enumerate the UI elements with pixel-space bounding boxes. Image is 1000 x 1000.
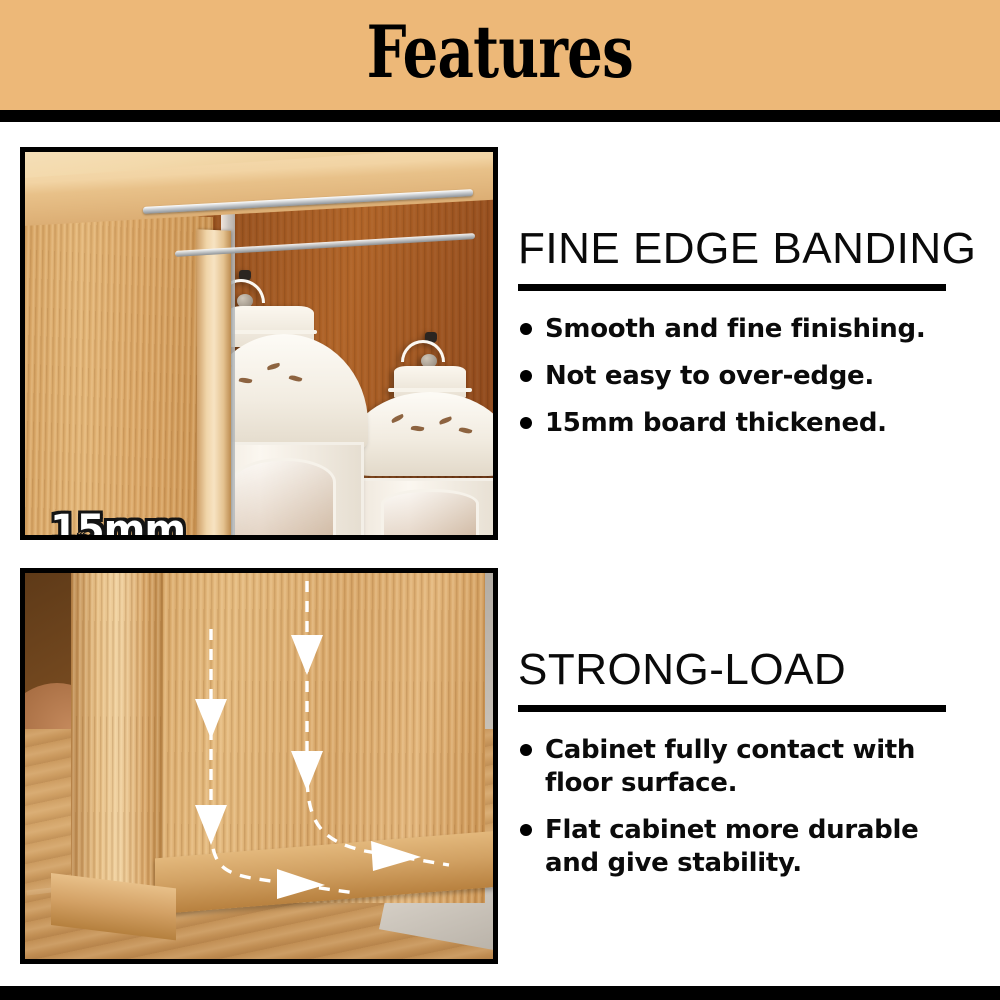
header-divider: [0, 110, 1000, 122]
feature-bullet-list: Cabinet fully contact with floor surface…: [518, 734, 978, 880]
section-title: STRONG-LOAD: [518, 645, 978, 695]
edge-band-strip: [197, 229, 231, 535]
cabinet-base-floor-photo: [20, 568, 498, 964]
list-item: Smooth and fine finishing.: [518, 313, 978, 346]
section-strong-load: STRONG-LOAD Cabinet fully contact with f…: [518, 645, 978, 894]
decorative-lantern-right: [355, 332, 493, 535]
list-item: Cabinet fully contact with floor surface…: [518, 734, 978, 800]
bullet-dot-icon: [520, 744, 532, 756]
list-item: Not easy to over-edge.: [518, 360, 978, 393]
footer-divider: [0, 986, 1000, 1000]
list-item-label: Not easy to over-edge.: [545, 360, 874, 393]
features-infographic: Features: [0, 0, 1000, 1000]
page-title: Features: [367, 16, 633, 94]
list-item-label: Cabinet fully contact with floor surface…: [545, 734, 949, 800]
bullet-dot-icon: [520, 323, 532, 335]
section-divider: [518, 284, 946, 291]
section-divider: [518, 705, 946, 712]
header-band: Features: [0, 0, 1000, 110]
arrow-heads: [195, 635, 421, 899]
bullet-dot-icon: [520, 370, 532, 382]
list-item: Flat cabinet more durable and give stabi…: [518, 814, 978, 880]
list-item-label: Flat cabinet more durable and give stabi…: [545, 814, 949, 880]
bullet-dot-icon: [520, 417, 532, 429]
list-item: 15mm board thickened.: [518, 407, 978, 440]
feature-bullet-list: Smooth and fine finishing. Not easy to o…: [518, 313, 978, 440]
list-item-label: 15mm board thickened.: [545, 407, 887, 440]
section-title: FINE EDGE BANDING: [518, 224, 978, 274]
load-direction-arrows: [25, 573, 493, 959]
bullet-dot-icon: [520, 824, 532, 836]
section-fine-edge-banding: FINE EDGE BANDING Smooth and fine finish…: [518, 224, 978, 454]
thickness-label: 15mm: [50, 510, 185, 535]
cabinet-corner-edge-photo: 15mm: [20, 147, 498, 540]
list-item-label: Smooth and fine finishing.: [545, 313, 925, 346]
